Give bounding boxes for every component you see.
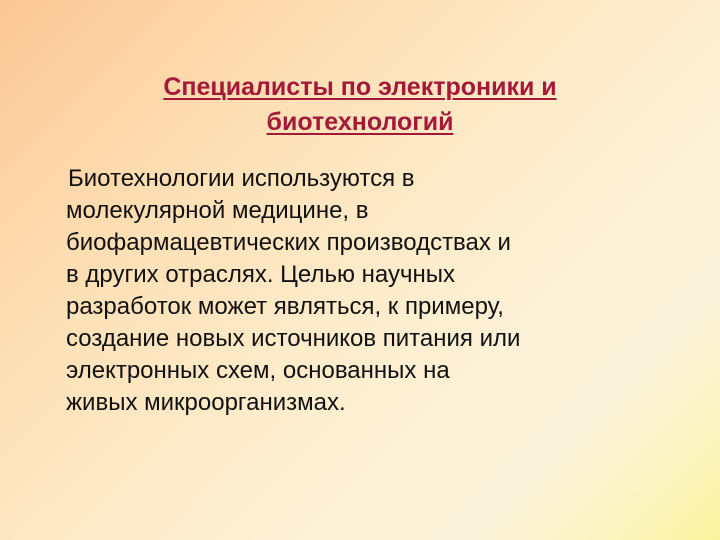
slide-title: Специалисты по электроники и биотехнолог…	[60, 70, 660, 140]
title-line-2: биотехнологий	[60, 105, 660, 140]
body-line-4: в других отраслях. Целью научных	[66, 259, 670, 291]
body-line-8: живых микроорганизмах.	[66, 387, 670, 419]
presentation-slide: Специалисты по электроники и биотехнолог…	[0, 0, 720, 540]
title-line-1-text: Специалисты по электроники и	[163, 73, 556, 101]
body-line-7: электронных схем, основанных на	[66, 355, 670, 387]
body-line-1: Биотехнологии используются в	[66, 163, 670, 195]
title-line-1: Специалисты по электроники и	[60, 70, 660, 105]
body-line-2: молекулярной медицине, в	[66, 195, 670, 227]
title-line-2-text: биотехнологий	[267, 108, 454, 136]
slide-body: Биотехнологии используются в молекулярно…	[66, 163, 670, 419]
body-line-3: биофармацевтических производствах и	[66, 227, 670, 259]
body-line-6: создание новых источников питания или	[66, 323, 670, 355]
body-line-5: разработок может являться, к примеру,	[66, 291, 670, 323]
